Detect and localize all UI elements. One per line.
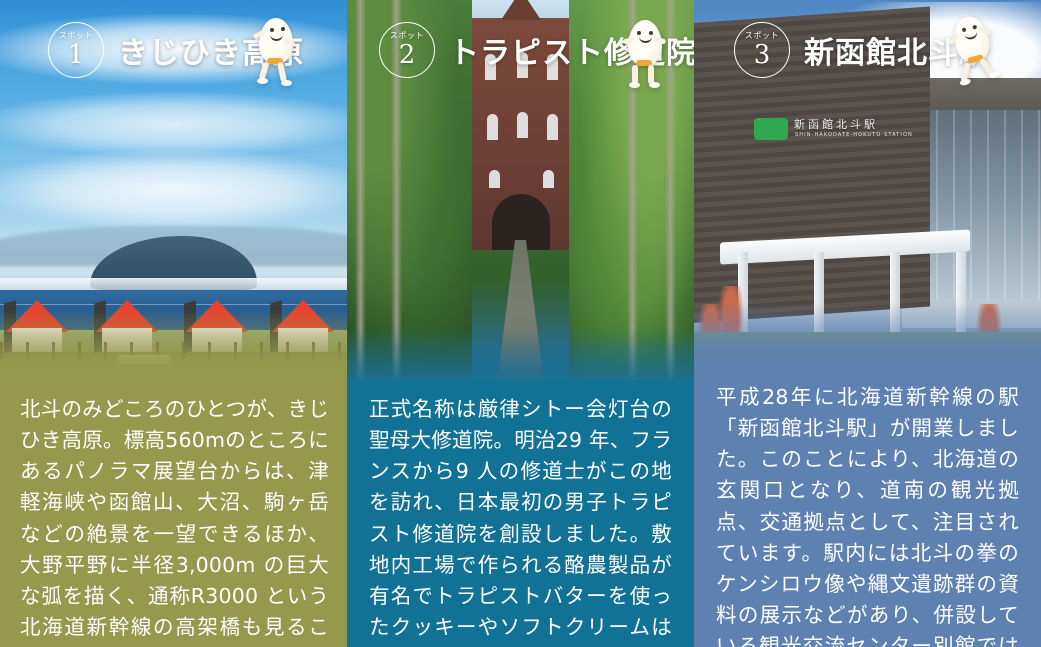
station-sign-jp: 新函館北斗駅 [794,116,878,132]
monastery-building [465,18,577,250]
jr-logo-icon [754,118,788,140]
station-sign-en: SHIN-HAKODATE-HOKUTO STATION [795,132,913,138]
spot-text-block-2: 正式名称は厳律シトー会灯台の聖母大修道院。明治29 年、フランスから9 人の修道… [347,380,694,647]
photo-fade [0,310,347,380]
cloud-layer [0,92,347,156]
spot-description-2: 正式名称は厳律シトー会灯台の聖母大修道院。明治29 年、フランスから9 人の修道… [347,380,694,647]
spot-text-block-3: 平成28年に北海道新幹線の駅「新函館北斗駅」が開業しました。このことにより、北海… [694,372,1041,647]
photo-fade [694,302,1041,372]
spot-panel-2[interactable]: スポット 2 トラピスト修道院 正式名称は厳律シトー会灯台の聖母大修道院。明治2… [347,0,694,647]
photo-fade [347,328,694,380]
spot-panel-1[interactable]: スポット 1 きじひき高原 北斗のみどころのひとつが、きじひき高原。標高560m… [0,0,347,647]
spot-panel-3[interactable]: 新函館北斗駅 SHIN-HAKODATE-HOKUTO STATION スポット… [694,0,1041,647]
cloud-layer [0,150,347,228]
rice-mascot-icon [622,16,668,90]
rice-mascot-icon [253,14,299,88]
spot-description-3: 平成28年に北海道新幹線の駅「新函館北斗駅」が開業しました。このことにより、北海… [694,372,1041,647]
spot-board: スポット 1 きじひき高原 北斗のみどころのひとつが、きじひき高原。標高560m… [0,0,1041,647]
spire [501,0,541,20]
spot-text-block-1: 北斗のみどころのひとつが、きじひき高原。標高560mのところにあるパノラマ展望台… [0,380,347,647]
spot-description-1: 北斗のみどころのひとつが、きじひき高原。標高560mのところにあるパノラマ展望台… [0,380,347,647]
